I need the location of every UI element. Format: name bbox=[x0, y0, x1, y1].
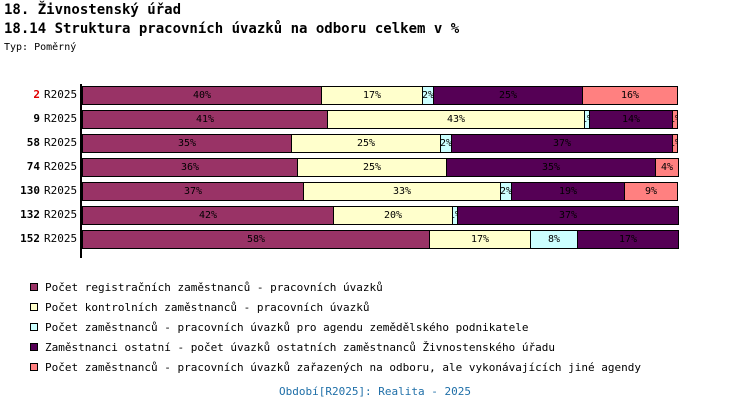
chart-type-label: Typ: Poměrný bbox=[4, 42, 76, 53]
legend-item: Počet kontrolních zaměstnanců - pracovní… bbox=[30, 297, 730, 317]
bar-segment: 58% bbox=[82, 230, 430, 249]
chart-row: 2R202540%17%2%25%16% bbox=[0, 84, 750, 108]
chart-row: 130R202537%33%2%19%9% bbox=[0, 180, 750, 204]
bar-segment: 35% bbox=[82, 134, 292, 153]
bar-segment-label: 35% bbox=[542, 163, 560, 173]
bar-segment: 37% bbox=[82, 182, 304, 201]
bar-segment-label: 1% bbox=[672, 115, 678, 125]
bar-segment: 33% bbox=[303, 182, 501, 201]
bar-segment: 42% bbox=[82, 206, 334, 225]
stacked-bar: 42%20%1%37% bbox=[82, 206, 682, 225]
bar-segment: 14% bbox=[589, 110, 673, 129]
row-period-label: R2025 bbox=[44, 184, 77, 197]
row-id-label: 130 bbox=[8, 184, 40, 197]
bar-segment-label: 17% bbox=[619, 235, 637, 245]
row-id-label: 9 bbox=[8, 112, 40, 125]
bar-segment-label: 16% bbox=[621, 91, 639, 101]
bar-segment: 25% bbox=[297, 158, 447, 177]
stacked-bar: 35%25%2%37%1% bbox=[82, 134, 682, 153]
bar-segment-label: 8% bbox=[548, 235, 560, 245]
bar-segment: 35% bbox=[446, 158, 656, 177]
stacked-bar: 36%25%35%4% bbox=[82, 158, 682, 177]
bar-segment-label: 19% bbox=[559, 187, 577, 197]
bar-segment: 17% bbox=[577, 230, 679, 249]
chart-title: 18.14 Struktura pracovních úvazků na odb… bbox=[4, 21, 459, 37]
row-id-label: 2 bbox=[8, 88, 40, 101]
bar-segment-label: 42% bbox=[199, 211, 217, 221]
bar-segment: 37% bbox=[457, 206, 679, 225]
bar-segment: 25% bbox=[433, 86, 583, 105]
bar-segment-label: 9% bbox=[645, 187, 657, 197]
bar-segment-label: 36% bbox=[181, 163, 199, 173]
row-period-label: R2025 bbox=[44, 160, 77, 173]
bar-segment-label: 35% bbox=[178, 139, 196, 149]
bar-segment: 40% bbox=[82, 86, 322, 105]
legend-label: Počet kontrolních zaměstnanců - pracovní… bbox=[45, 301, 370, 314]
legend-swatch-icon bbox=[30, 323, 38, 331]
chart-plot-area: 2R202540%17%2%25%16%9R202541%43%1%14%1%5… bbox=[0, 84, 750, 258]
bar-segment-label: 20% bbox=[384, 211, 402, 221]
bar-segment-label: 25% bbox=[499, 91, 517, 101]
legend-item: Počet zaměstnanců - pracovních úvazků pr… bbox=[30, 317, 730, 337]
bar-segment: 17% bbox=[321, 86, 423, 105]
page-title: 18. Živnostenský úřad bbox=[4, 2, 181, 18]
bar-segment-label: 41% bbox=[196, 115, 214, 125]
bar-segment-label: 17% bbox=[363, 91, 381, 101]
bar-segment-label: 4% bbox=[661, 163, 673, 173]
legend-label: Počet registračních zaměstnanců - pracov… bbox=[45, 281, 383, 294]
stacked-bar: 58%17%8%17% bbox=[82, 230, 682, 249]
legend-swatch-icon bbox=[30, 363, 38, 371]
chart-row: 9R202541%43%1%14%1% bbox=[0, 108, 750, 132]
legend-label: Počet zaměstnanců - pracovních úvazků za… bbox=[45, 361, 641, 374]
row-period-label: R2025 bbox=[44, 208, 77, 221]
bar-segment-label: 1% bbox=[672, 139, 678, 149]
bar-segment: 43% bbox=[327, 110, 585, 129]
chart-row: 74R202536%25%35%4% bbox=[0, 156, 750, 180]
bar-segment-label: 25% bbox=[357, 139, 375, 149]
bar-segment-label: 14% bbox=[622, 115, 640, 125]
legend-swatch-icon bbox=[30, 343, 38, 351]
row-period-label: R2025 bbox=[44, 136, 77, 149]
bar-segment-label: 40% bbox=[193, 91, 211, 101]
bar-segment: 8% bbox=[530, 230, 578, 249]
stacked-bar: 37%33%2%19%9% bbox=[82, 182, 682, 201]
row-id-label: 58 bbox=[8, 136, 40, 149]
bar-segment: 25% bbox=[291, 134, 441, 153]
chart-row: 58R202535%25%2%37%1% bbox=[0, 132, 750, 156]
bar-segment: 20% bbox=[333, 206, 453, 225]
bar-segment-label: 37% bbox=[559, 211, 577, 221]
legend-label: Počet zaměstnanců - pracovních úvazků pr… bbox=[45, 321, 528, 334]
bar-segment: 41% bbox=[82, 110, 328, 129]
row-id-label: 74 bbox=[8, 160, 40, 173]
row-id-label: 152 bbox=[8, 232, 40, 245]
bar-segment: 17% bbox=[429, 230, 531, 249]
chart-row: 132R202542%20%1%37% bbox=[0, 204, 750, 228]
row-period-label: R2025 bbox=[44, 88, 77, 101]
bar-segment: 1% bbox=[672, 134, 678, 153]
chart-legend: Počet registračních zaměstnanců - pracov… bbox=[30, 277, 730, 377]
footer-period-note: Období[R2025]: Realita - 2025 bbox=[0, 385, 750, 398]
legend-swatch-icon bbox=[30, 283, 38, 291]
legend-item: Počet zaměstnanců - pracovních úvazků za… bbox=[30, 357, 730, 377]
row-period-label: R2025 bbox=[44, 112, 77, 125]
bar-segment-label: 43% bbox=[447, 115, 465, 125]
legend-item: Počet registračních zaměstnanců - pracov… bbox=[30, 277, 730, 297]
bar-segment-label: 25% bbox=[363, 163, 381, 173]
bar-segment: 4% bbox=[655, 158, 679, 177]
legend-swatch-icon bbox=[30, 303, 38, 311]
bar-segment: 37% bbox=[451, 134, 673, 153]
bar-segment: 9% bbox=[624, 182, 678, 201]
bar-segment: 16% bbox=[582, 86, 678, 105]
row-period-label: R2025 bbox=[44, 232, 77, 245]
row-id-label: 132 bbox=[8, 208, 40, 221]
legend-label: Zaměstnanci ostatní - počet úvazků ostat… bbox=[45, 341, 555, 354]
legend-item: Zaměstnanci ostatní - počet úvazků ostat… bbox=[30, 337, 730, 357]
bar-segment-label: 33% bbox=[393, 187, 411, 197]
bar-segment-label: 58% bbox=[247, 235, 265, 245]
bar-segment: 36% bbox=[82, 158, 298, 177]
stacked-bar: 41%43%1%14%1% bbox=[82, 110, 682, 129]
bar-segment: 19% bbox=[511, 182, 625, 201]
stacked-bar: 40%17%2%25%16% bbox=[82, 86, 682, 105]
bar-segment-label: 37% bbox=[553, 139, 571, 149]
bar-segment: 1% bbox=[672, 110, 678, 129]
bar-segment-label: 17% bbox=[471, 235, 489, 245]
bar-segment-label: 37% bbox=[184, 187, 202, 197]
chart-row: 152R202558%17%8%17% bbox=[0, 228, 750, 252]
